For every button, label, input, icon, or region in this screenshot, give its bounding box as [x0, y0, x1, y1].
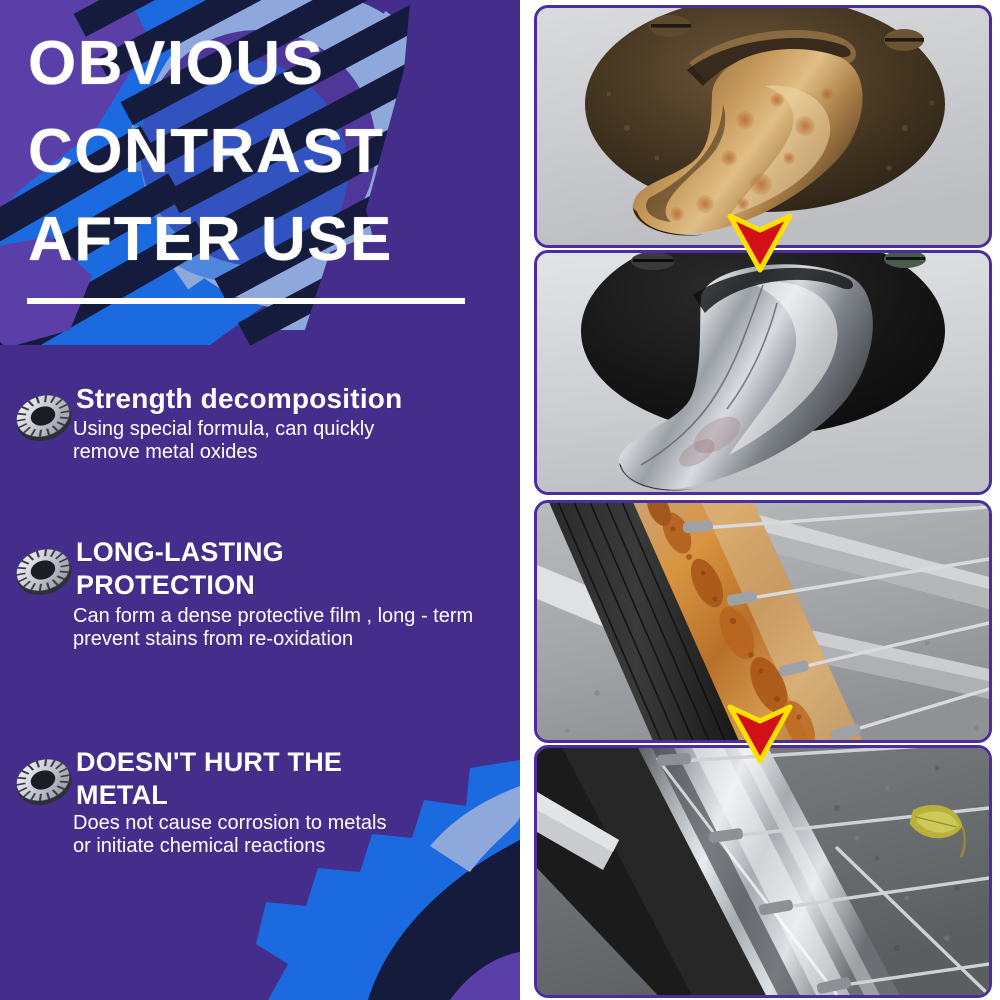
feature-text: Strength decomposition Using special for… [76, 382, 513, 464]
feature-title: Strength decomposition [76, 382, 513, 415]
rusty-wheel-rim-photo[interactable] [534, 500, 992, 743]
feature-item-long-lasting-protection: LONG-LASTING PROTECTION Can form a dense… [8, 536, 513, 651]
left-info-panel: OBVIOUS CONTRAST AFTER USE [0, 0, 520, 1000]
headline-divider [27, 298, 465, 304]
gear-icon [12, 540, 74, 598]
feature-item-doesnt-hurt-the-metal: DOESN'T HURT THE METAL Does not cause co… [8, 746, 513, 858]
clean-wheel-rim-photo[interactable] [534, 745, 992, 998]
feature-description: Can form a dense protective film , long … [73, 605, 513, 651]
product-infographic-poster: OBVIOUS CONTRAST AFTER USE [0, 0, 1000, 1000]
pipe-comparison-pair [520, 0, 1000, 495]
poster-headline: OBVIOUS CONTRAST AFTER USE [28, 20, 498, 284]
gear-icon [12, 750, 74, 808]
wheel-comparison-pair [520, 497, 1000, 1000]
headline-line-3: AFTER USE [28, 196, 498, 284]
feature-title: LONG-LASTING PROTECTION [76, 536, 513, 602]
feature-text: LONG-LASTING PROTECTION Can form a dense… [76, 536, 513, 651]
feature-description: Does not cause corrosion to metals or in… [73, 812, 513, 858]
photo-comparison-column [520, 0, 1000, 1000]
gear-icon [12, 386, 74, 444]
feature-text: DOESN'T HURT THE METAL Does not cause co… [76, 746, 513, 858]
headline-line-1: OBVIOUS [28, 20, 498, 108]
rusty-pipe-photo[interactable] [534, 5, 992, 248]
feature-item-strength-decomposition: Strength decomposition Using special for… [8, 382, 513, 464]
feature-description: Using special formula, can quickly remov… [73, 418, 513, 464]
clean-pipe-photo[interactable] [534, 250, 992, 495]
headline-line-2: CONTRAST [28, 108, 498, 196]
feature-title: DOESN'T HURT THE METAL [76, 746, 513, 812]
